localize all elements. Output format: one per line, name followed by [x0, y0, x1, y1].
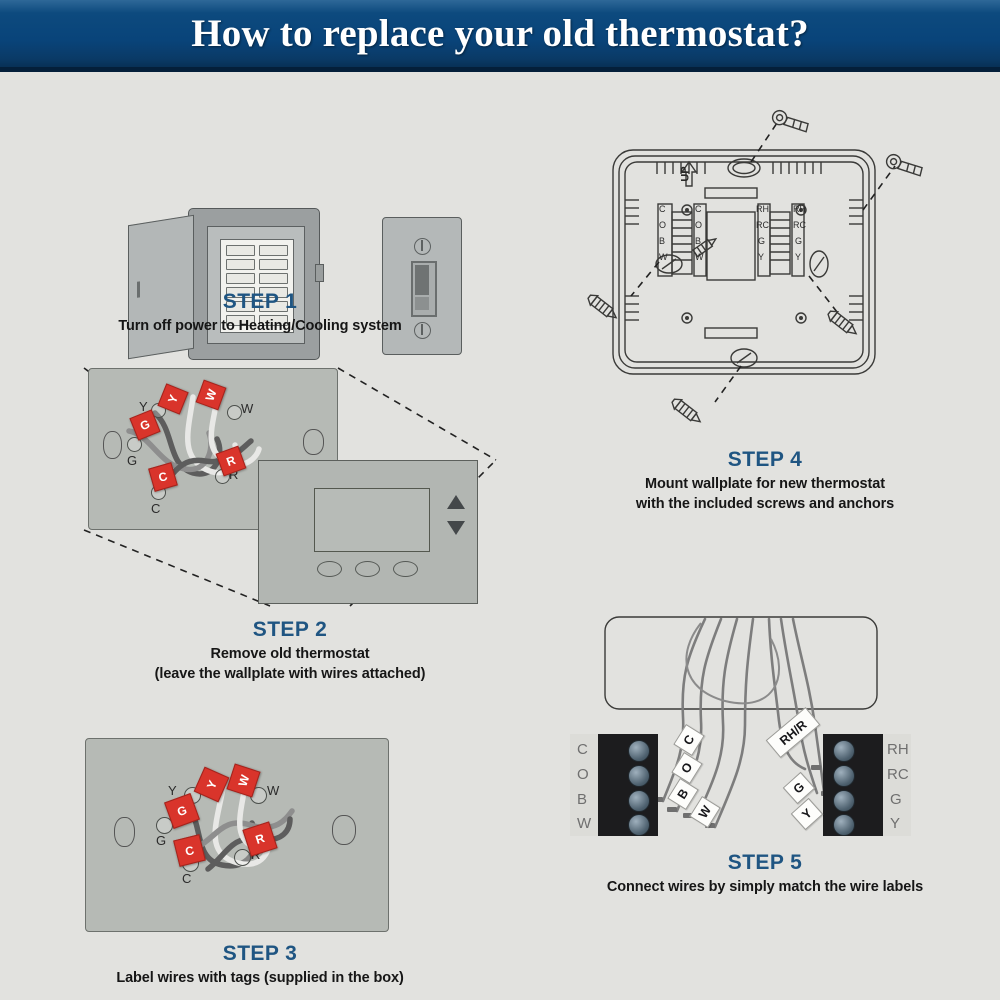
- terminal-label-c: C: [151, 501, 160, 516]
- right-terminal-block: RH RC G Y: [823, 734, 911, 836]
- left-screw-b[interactable]: [628, 790, 650, 812]
- left-terminal-block: C O B W: [570, 734, 658, 836]
- left-screw-c[interactable]: [628, 740, 650, 762]
- step-5-title: STEP 5: [565, 851, 965, 875]
- step-3-caption: STEP 3 Label wires with tags (supplied i…: [60, 942, 460, 986]
- breaker-switch: [259, 259, 288, 270]
- step-2-caption: STEP 2 Remove old thermostat (leave the …: [60, 618, 520, 682]
- breaker-switch: [259, 273, 288, 284]
- terminal-label-g: G: [156, 833, 166, 848]
- terminal-right2-y: Y: [795, 252, 801, 262]
- terminal-right-rh: RH: [756, 204, 769, 214]
- breaker-switch: [226, 259, 255, 270]
- step-5-caption: STEP 5 Connect wires by simply match the…: [565, 851, 965, 895]
- step-2-panel: Y W G C R Y W G C R STEP 2 Remove old th…: [60, 360, 520, 700]
- terminal-left2-b: B: [695, 236, 701, 246]
- terminal-left-o: O: [659, 220, 666, 230]
- terminal-left2-c: C: [695, 204, 702, 214]
- step-4-illustration: [565, 100, 965, 430]
- step-3-panel: Y W G C R Y W G C R STEP 3 Label wires w…: [60, 730, 460, 980]
- terminal-label-g: G: [127, 453, 137, 468]
- step-2-line-2: (leave the wallplate with wires attached…: [60, 666, 520, 682]
- terminal-label-w: W: [241, 401, 253, 416]
- terminal-left-b: B: [659, 236, 665, 246]
- left-block-letter-o: O: [577, 766, 589, 783]
- header-underline: [0, 67, 1000, 72]
- right-block-letter-y: Y: [890, 815, 900, 832]
- step-5-line-1: Connect wires by simply match the wire l…: [565, 879, 965, 895]
- temp-down-icon[interactable]: [447, 521, 465, 535]
- terminal-label-y: Y: [168, 783, 177, 798]
- terminal-label-w: W: [267, 783, 279, 798]
- step-4-panel: UP C O B W C O B W RH RC G Y RH RC G Y S…: [565, 100, 965, 430]
- terminal-left-w: W: [659, 252, 668, 262]
- step-4-title: STEP 4: [565, 448, 965, 472]
- terminal-left-c: C: [659, 204, 666, 214]
- terminal-right2-rh: RH: [793, 204, 806, 214]
- left-block-letter-b: B: [577, 791, 587, 808]
- breaker-panel-box: [188, 208, 320, 360]
- right-block-letter-g: G: [890, 791, 902, 808]
- panel-latch: [315, 264, 324, 282]
- terminal-left2-o: O: [695, 220, 702, 230]
- thermostat-display: [314, 488, 430, 552]
- page-title: How to replace your old thermostat?: [0, 0, 1000, 68]
- right-block-letter-rc: RC: [887, 766, 909, 783]
- step-1-caption: STEP 1 Turn off power to Heating/Cooling…: [60, 290, 460, 334]
- right-block-letter-rh: RH: [887, 741, 909, 758]
- terminal-right2-g: G: [795, 236, 802, 246]
- breaker-switch: [226, 273, 255, 284]
- step-3-line-1: Label wires with tags (supplied in the b…: [60, 970, 460, 986]
- step-4-line-1: Mount wallplate for new thermostat: [565, 476, 965, 492]
- right-screw-g[interactable]: [833, 790, 855, 812]
- step-2-line-1: Remove old thermostat: [60, 646, 520, 662]
- up-orientation-label: UP: [680, 166, 692, 181]
- terminal-right2-rc: RC: [793, 220, 806, 230]
- page-header: How to replace your old thermostat?: [0, 0, 1000, 72]
- right-screw-y[interactable]: [833, 814, 855, 836]
- thermostat-button-1[interactable]: [317, 561, 342, 577]
- terminal-label-c: C: [182, 871, 191, 886]
- temp-up-icon[interactable]: [447, 495, 465, 509]
- thermostat-button-3[interactable]: [393, 561, 418, 577]
- left-block-letter-w: W: [577, 815, 591, 832]
- terminal-right-y: Y: [758, 252, 764, 262]
- switch-screw-top-icon: [414, 238, 431, 255]
- step-1-panel: STEP 1 Turn off power to Heating/Cooling…: [60, 90, 460, 350]
- left-screw-w[interactable]: [628, 814, 650, 836]
- right-screw-rc[interactable]: [833, 765, 855, 787]
- terminal-w: [227, 405, 242, 420]
- left-screw-o[interactable]: [628, 765, 650, 787]
- thermostat-button-2[interactable]: [355, 561, 380, 577]
- step-1-line-1: Turn off power to Heating/Cooling system: [60, 318, 460, 334]
- step-4-line-2: with the included screws and anchors: [565, 496, 965, 512]
- step-2-title: STEP 2: [60, 618, 520, 642]
- terminal-left2-w: W: [695, 252, 704, 262]
- terminal-right-rc: RC: [756, 220, 769, 230]
- old-thermostat: [258, 460, 478, 604]
- right-screw-rh[interactable]: [833, 740, 855, 762]
- left-block-letter-c: C: [577, 741, 588, 758]
- step-5-panel: C O B W RH RC G Y C O B W RH/R G Y STEP …: [565, 605, 965, 925]
- step-1-title: STEP 1: [60, 290, 460, 314]
- step-3-title: STEP 3: [60, 942, 460, 966]
- light-switch-plate: [382, 217, 462, 355]
- step-4-caption: STEP 4 Mount wallplate for new thermosta…: [565, 448, 965, 512]
- breaker-switch: [259, 245, 288, 256]
- terminal-right-g: G: [758, 236, 765, 246]
- breaker-switch: [226, 245, 255, 256]
- breaker-panel-door: [128, 215, 194, 359]
- labeled-wallplate: Y W G C R Y W G C R: [85, 738, 389, 932]
